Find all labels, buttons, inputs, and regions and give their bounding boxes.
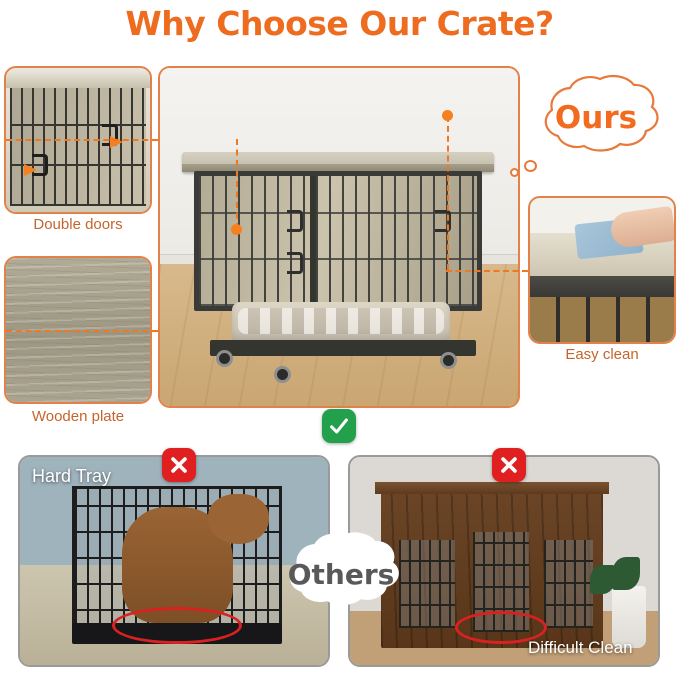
crate-top-surface xyxy=(6,72,150,88)
caster-wheel xyxy=(274,366,291,383)
caption-easy-clean: Easy clean xyxy=(528,346,676,363)
others-thought-bubble: Others xyxy=(268,528,414,620)
caster-wheel xyxy=(216,350,233,367)
status-badge-rejected-difficult-clean xyxy=(492,448,526,482)
status-badge-approved xyxy=(322,409,356,443)
feature-panel-easy-clean[interactable] xyxy=(528,196,676,344)
ours-label: Ours xyxy=(555,100,637,136)
crate-latch-lower xyxy=(287,252,303,274)
close-icon xyxy=(168,454,190,476)
crate-center-post xyxy=(310,176,316,306)
close-icon xyxy=(498,454,520,476)
callout-line-double-doors-drop xyxy=(236,139,238,229)
hero-product-panel[interactable] xyxy=(158,66,520,408)
wire-mesh xyxy=(10,88,146,206)
plant-leaf xyxy=(590,565,615,594)
bubble-tail-dot-small xyxy=(510,168,519,177)
callout-line-easy-clean-riser xyxy=(447,116,449,270)
pet-bed-cushion xyxy=(232,302,450,342)
label-difficult-clean: Difficult Clean xyxy=(528,638,633,658)
check-icon xyxy=(328,415,350,437)
status-badge-rejected-hard-tray xyxy=(162,448,196,482)
callout-line-wooden-plate xyxy=(6,330,158,332)
arrow-icon xyxy=(24,164,37,176)
product-crate xyxy=(188,152,488,342)
competitor-crate-top xyxy=(375,482,609,494)
callout-line-double-doors xyxy=(6,139,158,141)
bubble-tail-dot-large xyxy=(524,160,537,172)
problem-highlight-ellipse xyxy=(112,607,241,644)
caption-double-doors: Double doors xyxy=(4,216,152,233)
crate-latch-upper xyxy=(287,210,303,232)
wire-horizontal-bars xyxy=(199,176,477,306)
others-label: Others xyxy=(288,558,395,591)
rattan-drawer-row xyxy=(530,297,674,342)
plant-leaf xyxy=(612,557,640,590)
label-hard-tray: Hard Tray xyxy=(32,466,111,487)
callout-line-easy-clean xyxy=(446,270,528,272)
arrow-icon xyxy=(110,136,123,148)
page-title: Why Choose Our Crate? xyxy=(0,4,679,43)
ours-thought-bubble: Ours xyxy=(518,70,674,166)
table-edge xyxy=(530,276,674,298)
callout-dot-double-doors xyxy=(231,224,242,235)
callout-dot-easy-clean xyxy=(442,110,453,121)
crate-base-frame xyxy=(210,340,476,356)
caption-wooden-plate: Wooden plate xyxy=(4,408,152,425)
crate-mesh-right xyxy=(544,540,593,627)
easy-clean-image xyxy=(530,198,674,342)
caster-wheel xyxy=(440,352,457,369)
